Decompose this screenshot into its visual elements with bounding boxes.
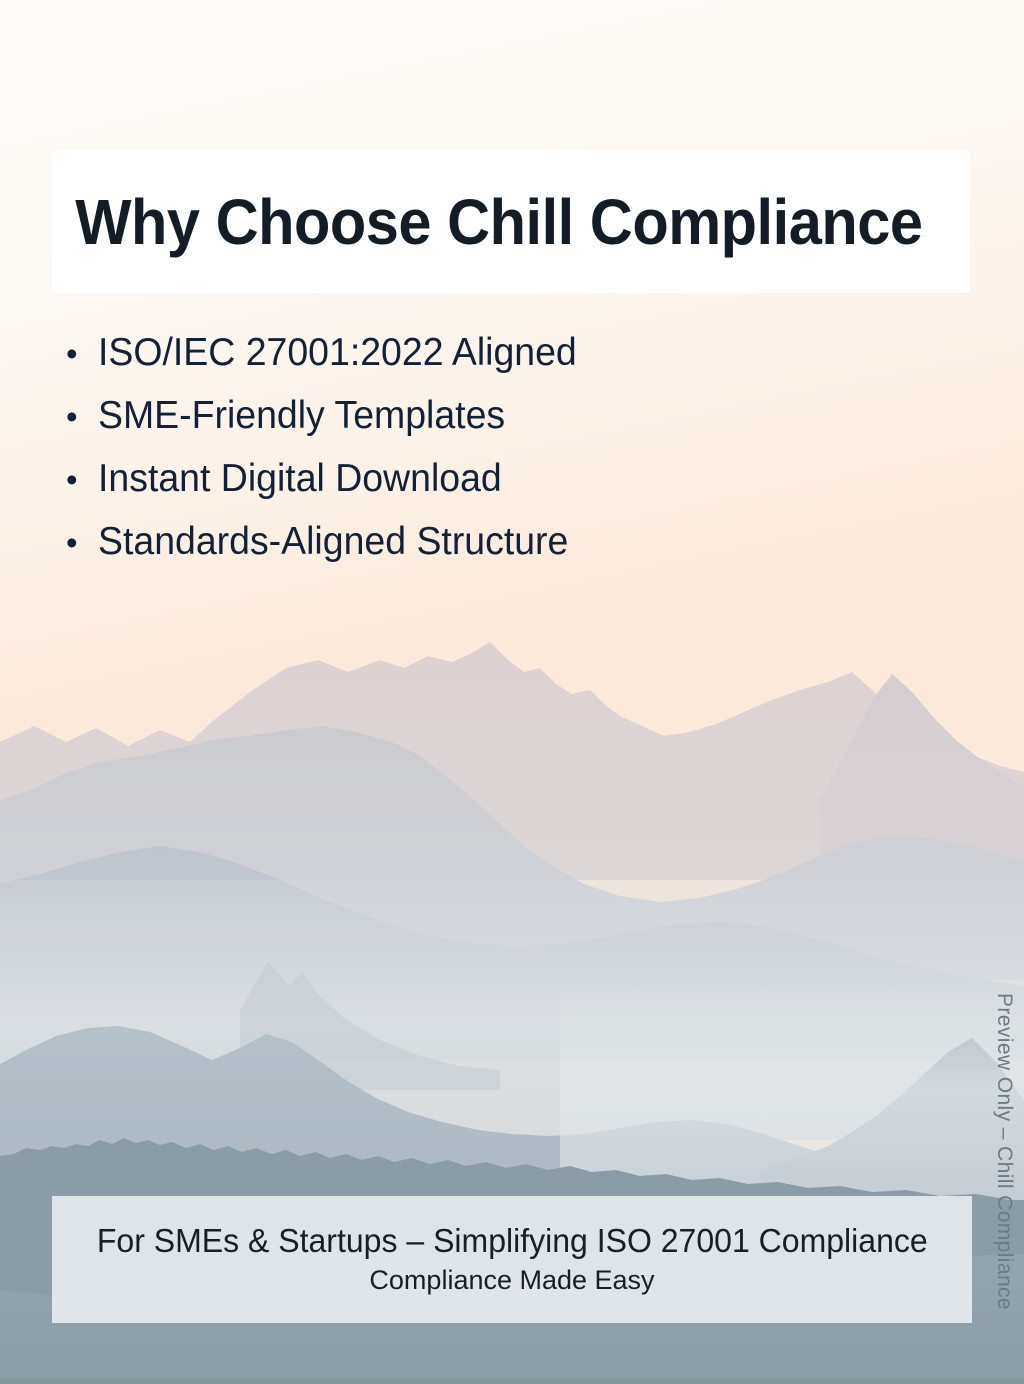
bullet-marker-icon: • [56, 463, 98, 496]
list-item: • Instant Digital Download [56, 456, 816, 502]
feature-bullet-list: • ISO/IEC 27001:2022 Aligned • SME-Frien… [56, 330, 816, 582]
title-band: Why Choose Chill Compliance [52, 150, 970, 293]
footer-subtagline: Compliance Made Easy [369, 1265, 654, 1297]
bullet-marker-icon: • [56, 337, 98, 370]
bullet-label: Instant Digital Download [98, 456, 502, 502]
list-item: • ISO/IEC 27001:2022 Aligned [56, 330, 816, 376]
footer-band: For SMEs & Startups – Simplifying ISO 27… [52, 1196, 972, 1323]
bullet-marker-icon: • [56, 400, 98, 433]
bullet-label: SME-Friendly Templates [98, 393, 505, 439]
preview-watermark: Preview Only – Chill Compliance [992, 993, 1016, 1310]
page-title: Why Choose Chill Compliance [52, 190, 923, 254]
list-item: • Standards-Aligned Structure [56, 519, 816, 565]
slide-canvas: Why Choose Chill Compliance • ISO/IEC 27… [0, 0, 1024, 1384]
bullet-marker-icon: • [56, 526, 98, 559]
bullet-label: Standards-Aligned Structure [98, 519, 568, 565]
bullet-label: ISO/IEC 27001:2022 Aligned [98, 330, 577, 376]
list-item: • SME-Friendly Templates [56, 393, 816, 439]
footer-tagline: For SMEs & Startups – Simplifying ISO 27… [97, 1222, 928, 1261]
